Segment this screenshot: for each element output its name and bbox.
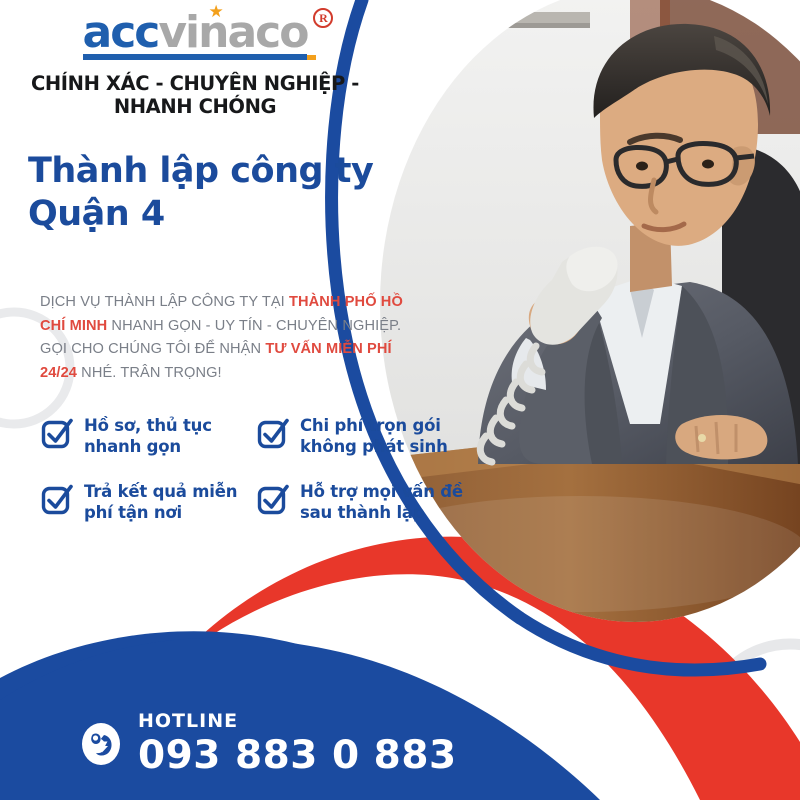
- brand-logo: acc vinaco ★ R CHÍNH XÁC - CHUYÊN NGHIỆP…: [0, 14, 390, 118]
- hotline-label: HOTLINE: [138, 712, 457, 731]
- registered-trademark-icon: R: [313, 8, 333, 28]
- logo-underline-bar: [83, 54, 308, 60]
- hotline-number[interactable]: 093 883 0 883: [138, 736, 457, 775]
- lede-segment-1: DỊCH VỤ THÀNH LẬP CÔNG TY TẠI: [40, 294, 289, 310]
- feature-label: Hồ sơ, thủ tục nhanh gọn: [84, 414, 256, 458]
- logo-text-acc: acc: [83, 14, 159, 51]
- checkbox-checked-icon: [256, 482, 290, 516]
- list-item: Chi phí trọn gói không phát sinh: [256, 414, 470, 458]
- headline-line-2: Quận 4: [28, 194, 165, 234]
- marketing-banner: acc vinaco ★ R CHÍNH XÁC - CHUYÊN NGHIỆP…: [0, 0, 800, 800]
- checkbox-checked-icon: [40, 482, 74, 516]
- logo-bar-accent: [307, 55, 316, 60]
- list-item: Hỗ trợ mọi vấn đề sau thành lập: [256, 480, 470, 524]
- checkbox-checked-icon: [256, 416, 290, 450]
- hotline-block[interactable]: HOTLINE 093 883 0 883: [78, 712, 457, 775]
- feature-label: Trả kết quả miễn phí tận nơi: [84, 480, 256, 524]
- checkbox-checked-icon: [40, 416, 74, 450]
- headline-line-1: Thành lập công ty: [28, 151, 373, 191]
- feature-list: Hồ sơ, thủ tục nhanh gọn Chi phí trọn gó…: [40, 414, 470, 524]
- star-icon: ★: [209, 3, 224, 20]
- intro-paragraph: DỊCH VỤ THÀNH LẬP CÔNG TY TẠI THÀNH PHỐ …: [40, 291, 412, 386]
- phone-handset-icon: [78, 721, 124, 767]
- logo-mark: acc vinaco ★ R: [83, 14, 308, 60]
- lede-segment-3: NHÉ. TRÂN TRỌNG!: [77, 365, 222, 381]
- feature-label: Hỗ trợ mọi vấn đề sau thành lập: [300, 480, 470, 524]
- list-item: Trả kết quả miễn phí tận nơi: [40, 480, 256, 524]
- hotline-text: HOTLINE 093 883 0 883: [138, 712, 457, 775]
- brand-tagline: CHÍNH XÁC - CHUYÊN NGHIỆP - NHANH CHÓNG: [0, 72, 390, 118]
- list-item: Hồ sơ, thủ tục nhanh gọn: [40, 414, 256, 458]
- logo-text-vinaco: vinaco: [158, 14, 307, 51]
- feature-label: Chi phí trọn gói không phát sinh: [300, 414, 470, 458]
- page-title: Thành lập công ty Quận 4: [28, 150, 408, 236]
